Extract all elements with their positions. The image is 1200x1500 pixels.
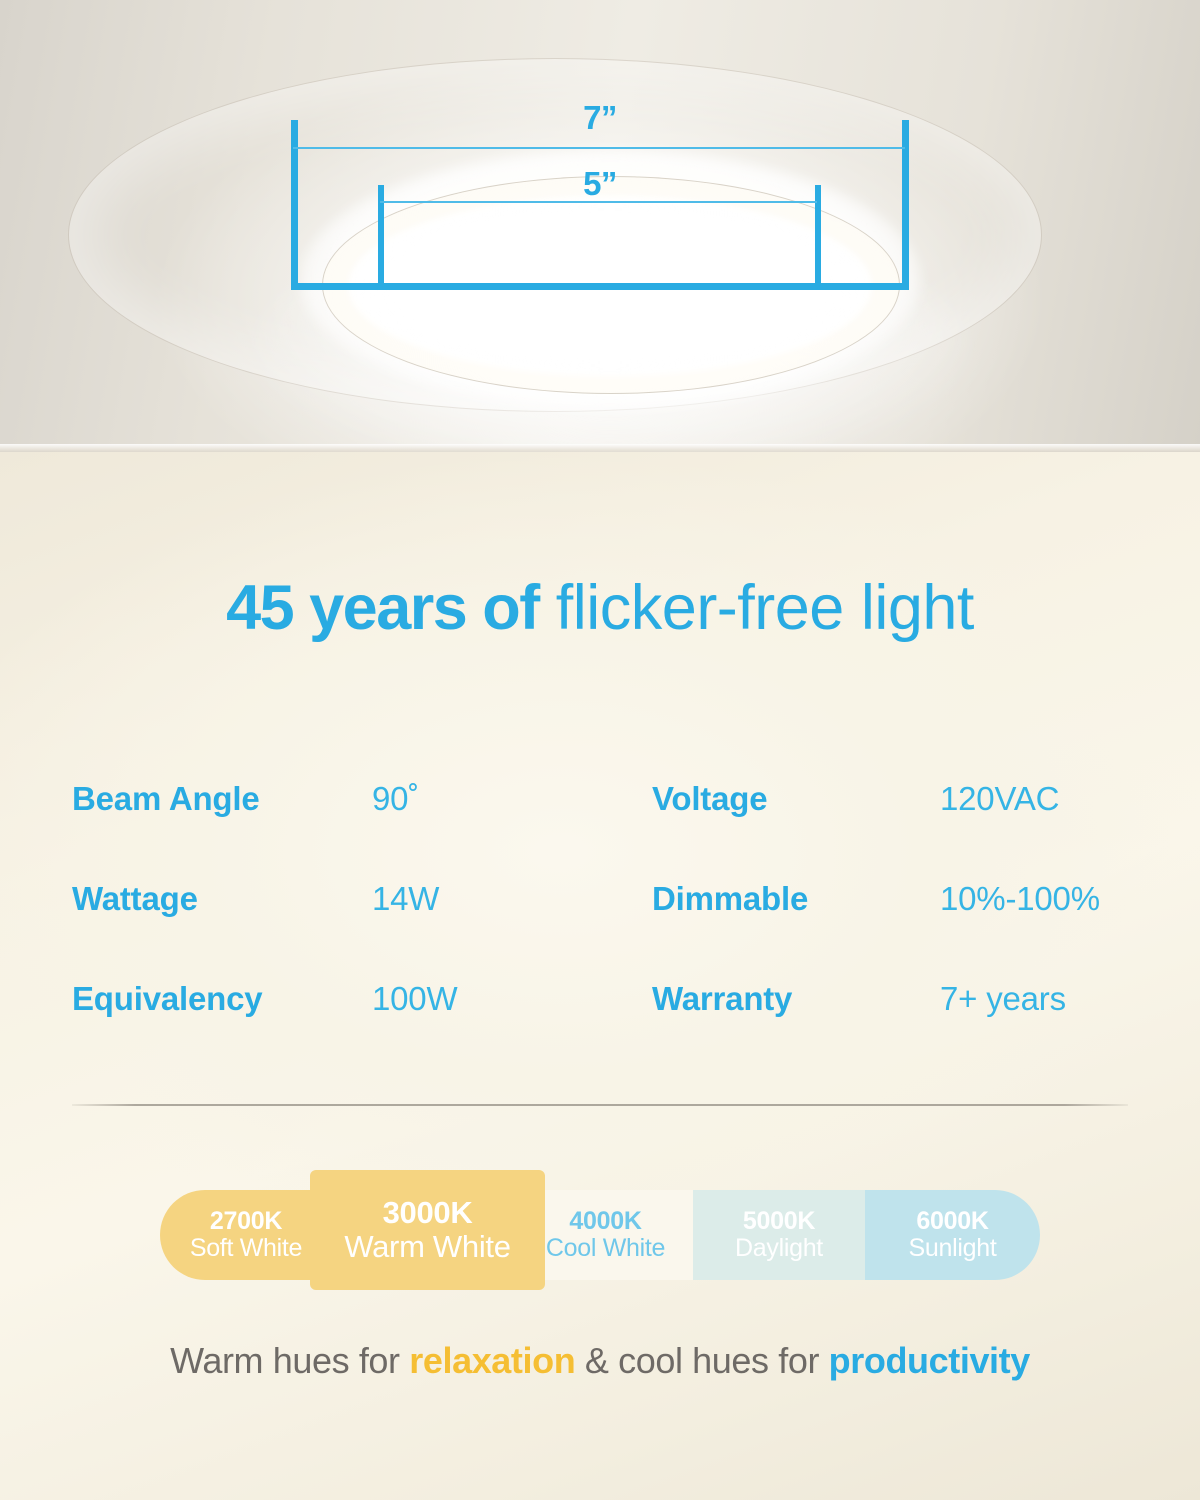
cct-option-6000k[interactable]: 6000KSunlight [865, 1190, 1040, 1280]
caption-productivity: productivity [829, 1340, 1030, 1381]
spec-cell-wattage: Wattage 14W [72, 880, 652, 918]
product-infographic: 7” 5” 45 years of flicker-free light Bea… [0, 0, 1200, 1500]
caption-part-1: Warm hues for [170, 1340, 409, 1381]
spec-label: Warranty [652, 980, 940, 1018]
spec-value: 90˚ [372, 780, 419, 818]
outer-left-tick [291, 120, 298, 290]
spec-label: Wattage [72, 880, 372, 918]
headline-strong: 45 years of [226, 573, 539, 643]
cct-name: Daylight [735, 1235, 823, 1262]
spec-row: Wattage 14W Dimmable 10%-100% [72, 880, 1128, 918]
inner-dimension-label: 5” [0, 167, 1200, 200]
caption-relaxation: relaxation [409, 1340, 575, 1381]
spec-table: Beam Angle 90˚ Voltage 120VAC Wattage 14… [72, 780, 1128, 1080]
spec-label: Equivalency [72, 980, 372, 1018]
cct-name: Sunlight [909, 1235, 997, 1262]
spec-label: Beam Angle [72, 780, 372, 818]
spec-value: 14W [372, 880, 439, 918]
spec-value: 10%-100% [940, 880, 1100, 918]
spec-label: Dimmable [652, 880, 940, 918]
cct-option-5000k[interactable]: 5000KDaylight [693, 1190, 865, 1280]
cct-selected-kelvin: 3000K [383, 1196, 473, 1230]
cct-option-3000k-selected[interactable]: 3000K Warm White [310, 1170, 545, 1290]
spec-row: Equivalency 100W Warranty 7+ years [72, 980, 1128, 1018]
spec-cell-voltage: Voltage 120VAC [652, 780, 1128, 818]
spec-cell-warranty: Warranty 7+ years [652, 980, 1128, 1018]
color-temperature-selector[interactable]: 2700KSoft White3000KWarm White4000KCool … [160, 1190, 1040, 1280]
page-headline: 45 years of flicker-free light [0, 575, 1200, 641]
spec-value: 100W [372, 980, 457, 1018]
spec-cell-equivalency: Equivalency 100W [72, 980, 652, 1018]
section-divider [72, 1104, 1128, 1106]
spec-cell-dimmable: Dimmable 10%-100% [652, 880, 1128, 918]
caption-part-2: & cool hues for [575, 1340, 828, 1381]
spec-value: 7+ years [940, 980, 1066, 1018]
cct-kelvin: 4000K [569, 1208, 641, 1235]
cct-track: 2700KSoft White3000KWarm White4000KCool … [160, 1190, 1040, 1280]
cct-name: Soft White [190, 1235, 302, 1262]
cct-selected-name: Warm White [344, 1230, 510, 1264]
cct-kelvin: 6000K [916, 1208, 988, 1235]
outer-measure-line [293, 147, 905, 149]
cct-option-2700k[interactable]: 2700KSoft White [160, 1190, 332, 1280]
cct-caption: Warm hues for relaxation & cool hues for… [0, 1340, 1200, 1382]
cct-kelvin: 5000K [743, 1208, 815, 1235]
cct-name: Cool White [546, 1235, 665, 1262]
spec-row: Beam Angle 90˚ Voltage 120VAC [72, 780, 1128, 818]
outer-dimension-label: 7” [0, 101, 1200, 134]
spec-cell-beam-angle: Beam Angle 90˚ [72, 780, 652, 818]
cct-kelvin: 2700K [210, 1208, 282, 1235]
outer-right-tick [902, 120, 909, 290]
spec-label: Voltage [652, 780, 940, 818]
dimension-overlay: 7” 5” [0, 0, 1200, 452]
spec-value: 120VAC [940, 780, 1059, 818]
headline-light: flicker-free light [539, 573, 974, 643]
